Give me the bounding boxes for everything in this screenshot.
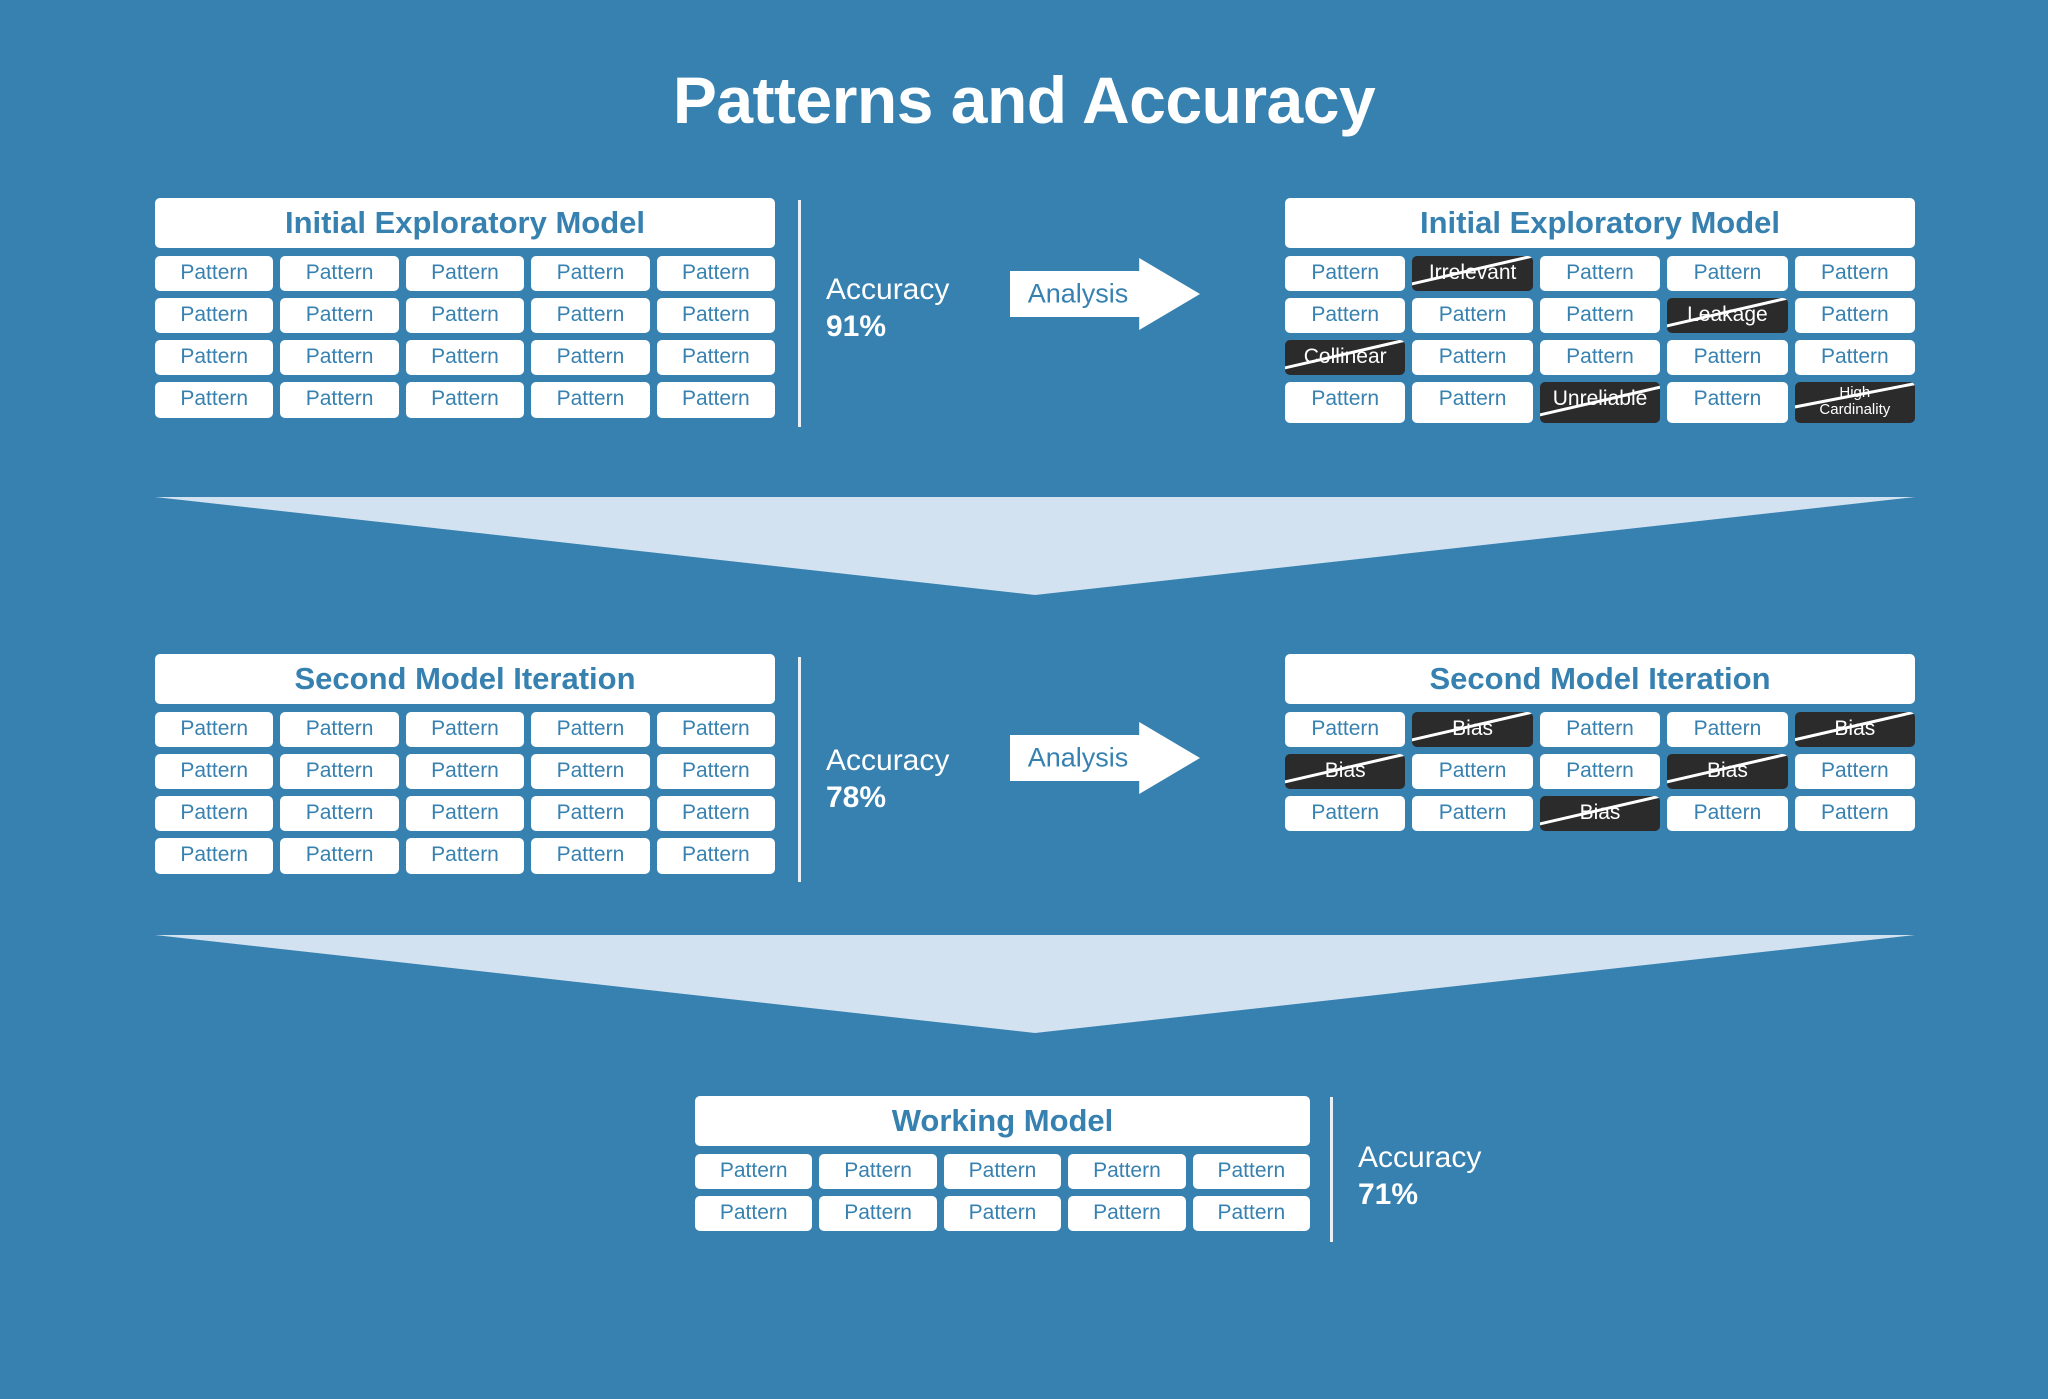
pattern-row: PatternPatternBiasPatternPattern bbox=[1285, 796, 1915, 831]
pattern-grid: PatternPatternPatternPatternPatternPatte… bbox=[155, 256, 775, 418]
pattern-chip[interactable]: Pattern bbox=[1795, 796, 1915, 831]
flagged-pattern-chip[interactable]: Irrelevant bbox=[1412, 256, 1532, 291]
panel-second-iteration-right: Second Model Iteration PatternBiasPatter… bbox=[1285, 654, 1915, 831]
pattern-chip[interactable]: Pattern bbox=[1540, 340, 1660, 375]
pattern-row: PatternPatternPatternPatternPattern bbox=[155, 838, 775, 873]
flagged-pattern-chip[interactable]: Bias bbox=[1285, 754, 1405, 789]
pattern-chip[interactable]: Pattern bbox=[944, 1154, 1061, 1189]
pattern-row: PatternPatternPatternPatternPattern bbox=[155, 712, 775, 747]
accuracy-label: Accuracy bbox=[1358, 1140, 1481, 1177]
pattern-chip[interactable]: Pattern bbox=[657, 796, 775, 831]
panel-initial-exploratory-left: Initial Exploratory Model PatternPattern… bbox=[155, 198, 775, 418]
pattern-chip[interactable]: Pattern bbox=[1412, 340, 1532, 375]
pattern-chip[interactable]: Pattern bbox=[1412, 796, 1532, 831]
accuracy-value: 71% bbox=[1358, 1177, 1481, 1214]
pattern-row: PatternPatternUnreliablePatternHighCardi… bbox=[1285, 382, 1915, 423]
pattern-chip[interactable]: Pattern bbox=[1795, 298, 1915, 333]
pattern-chip[interactable]: Pattern bbox=[1667, 340, 1787, 375]
pattern-row: PatternPatternPatternPatternPattern bbox=[155, 298, 775, 333]
pattern-row: BiasPatternPatternBiasPattern bbox=[1285, 754, 1915, 789]
pattern-chip[interactable]: Pattern bbox=[1540, 298, 1660, 333]
pattern-chip[interactable]: Pattern bbox=[1540, 754, 1660, 789]
pattern-chip[interactable]: Pattern bbox=[1412, 382, 1532, 423]
pattern-chip[interactable]: Pattern bbox=[1795, 256, 1915, 291]
chip-label-line: High bbox=[1839, 384, 1870, 401]
flagged-pattern-chip[interactable]: Bias bbox=[1540, 796, 1660, 831]
panel-title: Second Model Iteration bbox=[155, 654, 775, 704]
pattern-chip[interactable]: Pattern bbox=[657, 382, 775, 417]
pattern-chip[interactable]: Pattern bbox=[657, 340, 775, 375]
pattern-chip[interactable]: Pattern bbox=[1412, 754, 1532, 789]
pattern-chip[interactable]: Pattern bbox=[406, 340, 524, 375]
pattern-chip[interactable]: Pattern bbox=[695, 1196, 812, 1231]
pattern-chip[interactable]: Pattern bbox=[531, 340, 649, 375]
pattern-chip[interactable]: Pattern bbox=[1412, 298, 1532, 333]
pattern-chip[interactable]: Pattern bbox=[280, 298, 398, 333]
stage2-to-stage3-chevron bbox=[155, 935, 1915, 1033]
pattern-chip[interactable]: Pattern bbox=[1193, 1196, 1310, 1231]
pattern-row: PatternPatternPatternPatternPattern bbox=[695, 1196, 1310, 1231]
pattern-chip[interactable]: Pattern bbox=[531, 796, 649, 831]
panel-title: Initial Exploratory Model bbox=[155, 198, 775, 248]
stage1-analysis-arrow[interactable]: Analysis bbox=[1010, 258, 1200, 330]
pattern-chip[interactable]: Pattern bbox=[1068, 1154, 1185, 1189]
pattern-chip[interactable]: Pattern bbox=[1068, 1196, 1185, 1231]
pattern-chip[interactable]: Pattern bbox=[280, 796, 398, 831]
pattern-chip[interactable]: Pattern bbox=[155, 298, 273, 333]
pattern-row: PatternPatternPatternPatternPattern bbox=[155, 754, 775, 789]
pattern-chip[interactable]: Pattern bbox=[406, 838, 524, 873]
pattern-chip[interactable]: Pattern bbox=[406, 382, 524, 417]
pattern-chip[interactable]: Pattern bbox=[280, 838, 398, 873]
pattern-chip[interactable]: Pattern bbox=[280, 340, 398, 375]
pattern-chip[interactable]: Pattern bbox=[531, 298, 649, 333]
pattern-row: PatternPatternPatternPatternPattern bbox=[695, 1154, 1310, 1189]
pattern-chip[interactable]: Pattern bbox=[657, 256, 775, 291]
flagged-pattern-chip[interactable]: Leakage bbox=[1667, 298, 1787, 333]
stage3-divider bbox=[1330, 1097, 1333, 1242]
chip-label-line: Cardinality bbox=[1819, 401, 1890, 418]
pattern-chip[interactable]: Pattern bbox=[531, 754, 649, 789]
pattern-chip[interactable]: Pattern bbox=[1667, 256, 1787, 291]
pattern-chip[interactable]: Pattern bbox=[531, 838, 649, 873]
pattern-chip[interactable]: Pattern bbox=[1285, 796, 1405, 831]
pattern-row: PatternBiasPatternPatternBias bbox=[1285, 712, 1915, 747]
panel-second-iteration-left: Second Model Iteration PatternPatternPat… bbox=[155, 654, 775, 874]
pattern-chip[interactable]: Pattern bbox=[1667, 796, 1787, 831]
flagged-pattern-chip[interactable]: Unreliable bbox=[1540, 382, 1660, 423]
pattern-chip[interactable]: Pattern bbox=[280, 754, 398, 789]
pattern-chip[interactable]: Pattern bbox=[1285, 298, 1405, 333]
pattern-row: CollinearPatternPatternPatternPattern bbox=[1285, 340, 1915, 375]
pattern-chip[interactable]: Pattern bbox=[155, 256, 273, 291]
pattern-row: PatternPatternPatternPatternPattern bbox=[155, 340, 775, 375]
panel-title: Initial Exploratory Model bbox=[1285, 198, 1915, 248]
pattern-chip[interactable]: Pattern bbox=[819, 1154, 936, 1189]
stage2-analysis-arrow[interactable]: Analysis bbox=[1010, 722, 1200, 794]
pattern-row: PatternPatternPatternLeakagePattern bbox=[1285, 298, 1915, 333]
pattern-chip[interactable]: Pattern bbox=[155, 382, 273, 417]
pattern-chip[interactable]: Pattern bbox=[406, 754, 524, 789]
pattern-chip[interactable]: Pattern bbox=[280, 256, 398, 291]
pattern-chip[interactable]: Pattern bbox=[155, 754, 273, 789]
flagged-pattern-chip[interactable]: Bias bbox=[1412, 712, 1532, 747]
pattern-chip[interactable]: Pattern bbox=[819, 1196, 936, 1231]
pattern-chip[interactable]: Pattern bbox=[406, 712, 524, 747]
pattern-row: PatternIrrelevantPatternPatternPattern bbox=[1285, 256, 1915, 291]
pattern-chip[interactable]: Pattern bbox=[1285, 256, 1405, 291]
pattern-chip[interactable]: Pattern bbox=[531, 382, 649, 417]
pattern-chip[interactable]: Pattern bbox=[155, 796, 273, 831]
pattern-chip[interactable]: Pattern bbox=[1540, 712, 1660, 747]
stage2-divider bbox=[798, 657, 801, 882]
pattern-chip[interactable]: Pattern bbox=[657, 838, 775, 873]
pattern-row: PatternPatternPatternPatternPattern bbox=[155, 796, 775, 831]
stage2-accuracy: Accuracy 78% bbox=[826, 743, 949, 816]
pattern-grid: PatternPatternPatternPatternPatternPatte… bbox=[695, 1154, 1310, 1231]
pattern-chip[interactable]: Pattern bbox=[531, 712, 649, 747]
pattern-chip[interactable]: Pattern bbox=[1540, 256, 1660, 291]
pattern-grid: PatternBiasPatternPatternBiasBiasPattern… bbox=[1285, 712, 1915, 831]
analysis-label: Analysis bbox=[1016, 279, 1140, 310]
pattern-row: PatternPatternPatternPatternPattern bbox=[155, 256, 775, 291]
accuracy-value: 78% bbox=[826, 780, 949, 817]
pattern-chip[interactable]: Pattern bbox=[1193, 1154, 1310, 1189]
pattern-chip[interactable]: Pattern bbox=[1285, 712, 1405, 747]
flagged-pattern-chip[interactable]: Bias bbox=[1795, 712, 1915, 747]
panel-title: Working Model bbox=[695, 1096, 1310, 1146]
panel-title: Second Model Iteration bbox=[1285, 654, 1915, 704]
flagged-pattern-chip[interactable]: Collinear bbox=[1285, 340, 1405, 375]
pattern-chip[interactable]: Pattern bbox=[657, 298, 775, 333]
pattern-chip[interactable]: Pattern bbox=[280, 382, 398, 417]
pattern-chip[interactable]: Pattern bbox=[1285, 382, 1405, 423]
accuracy-value: 91% bbox=[826, 309, 949, 346]
panel-working-model: Working Model PatternPatternPatternPatte… bbox=[695, 1096, 1310, 1231]
pattern-chip[interactable]: Pattern bbox=[406, 298, 524, 333]
pattern-grid: PatternPatternPatternPatternPatternPatte… bbox=[155, 712, 775, 874]
pattern-chip[interactable]: Pattern bbox=[406, 256, 524, 291]
pattern-chip[interactable]: Pattern bbox=[531, 256, 649, 291]
stage1-to-stage2-chevron bbox=[155, 497, 1915, 595]
analysis-label: Analysis bbox=[1016, 743, 1140, 774]
pattern-chip[interactable]: Pattern bbox=[1795, 754, 1915, 789]
pattern-row: PatternPatternPatternPatternPattern bbox=[155, 382, 775, 417]
pattern-chip[interactable]: Pattern bbox=[657, 712, 775, 747]
pattern-chip[interactable]: Pattern bbox=[657, 754, 775, 789]
pattern-chip[interactable]: Pattern bbox=[155, 838, 273, 873]
pattern-chip[interactable]: Pattern bbox=[1795, 340, 1915, 375]
pattern-chip[interactable]: Pattern bbox=[1667, 712, 1787, 747]
pattern-chip[interactable]: Pattern bbox=[280, 712, 398, 747]
pattern-chip[interactable]: Pattern bbox=[695, 1154, 812, 1189]
pattern-chip[interactable]: Pattern bbox=[944, 1196, 1061, 1231]
pattern-grid: PatternIrrelevantPatternPatternPatternPa… bbox=[1285, 256, 1915, 423]
pattern-chip[interactable]: Pattern bbox=[155, 712, 273, 747]
diagram-canvas: Patterns and Accuracy Initial Explorator… bbox=[0, 0, 2048, 1399]
panel-initial-exploratory-right: Initial Exploratory Model PatternIrrelev… bbox=[1285, 198, 1915, 423]
flagged-pattern-chip[interactable]: Bias bbox=[1667, 754, 1787, 789]
flagged-pattern-chip[interactable]: HighCardinality bbox=[1795, 382, 1915, 423]
stage3-accuracy: Accuracy 71% bbox=[1358, 1140, 1481, 1213]
pattern-chip[interactable]: Pattern bbox=[1667, 382, 1787, 423]
accuracy-label: Accuracy bbox=[826, 272, 949, 309]
pattern-chip[interactable]: Pattern bbox=[406, 796, 524, 831]
page-title: Patterns and Accuracy bbox=[0, 62, 2048, 138]
accuracy-label: Accuracy bbox=[826, 743, 949, 780]
stage1-divider bbox=[798, 200, 801, 427]
pattern-chip[interactable]: Pattern bbox=[155, 340, 273, 375]
stage1-accuracy: Accuracy 91% bbox=[826, 272, 949, 345]
